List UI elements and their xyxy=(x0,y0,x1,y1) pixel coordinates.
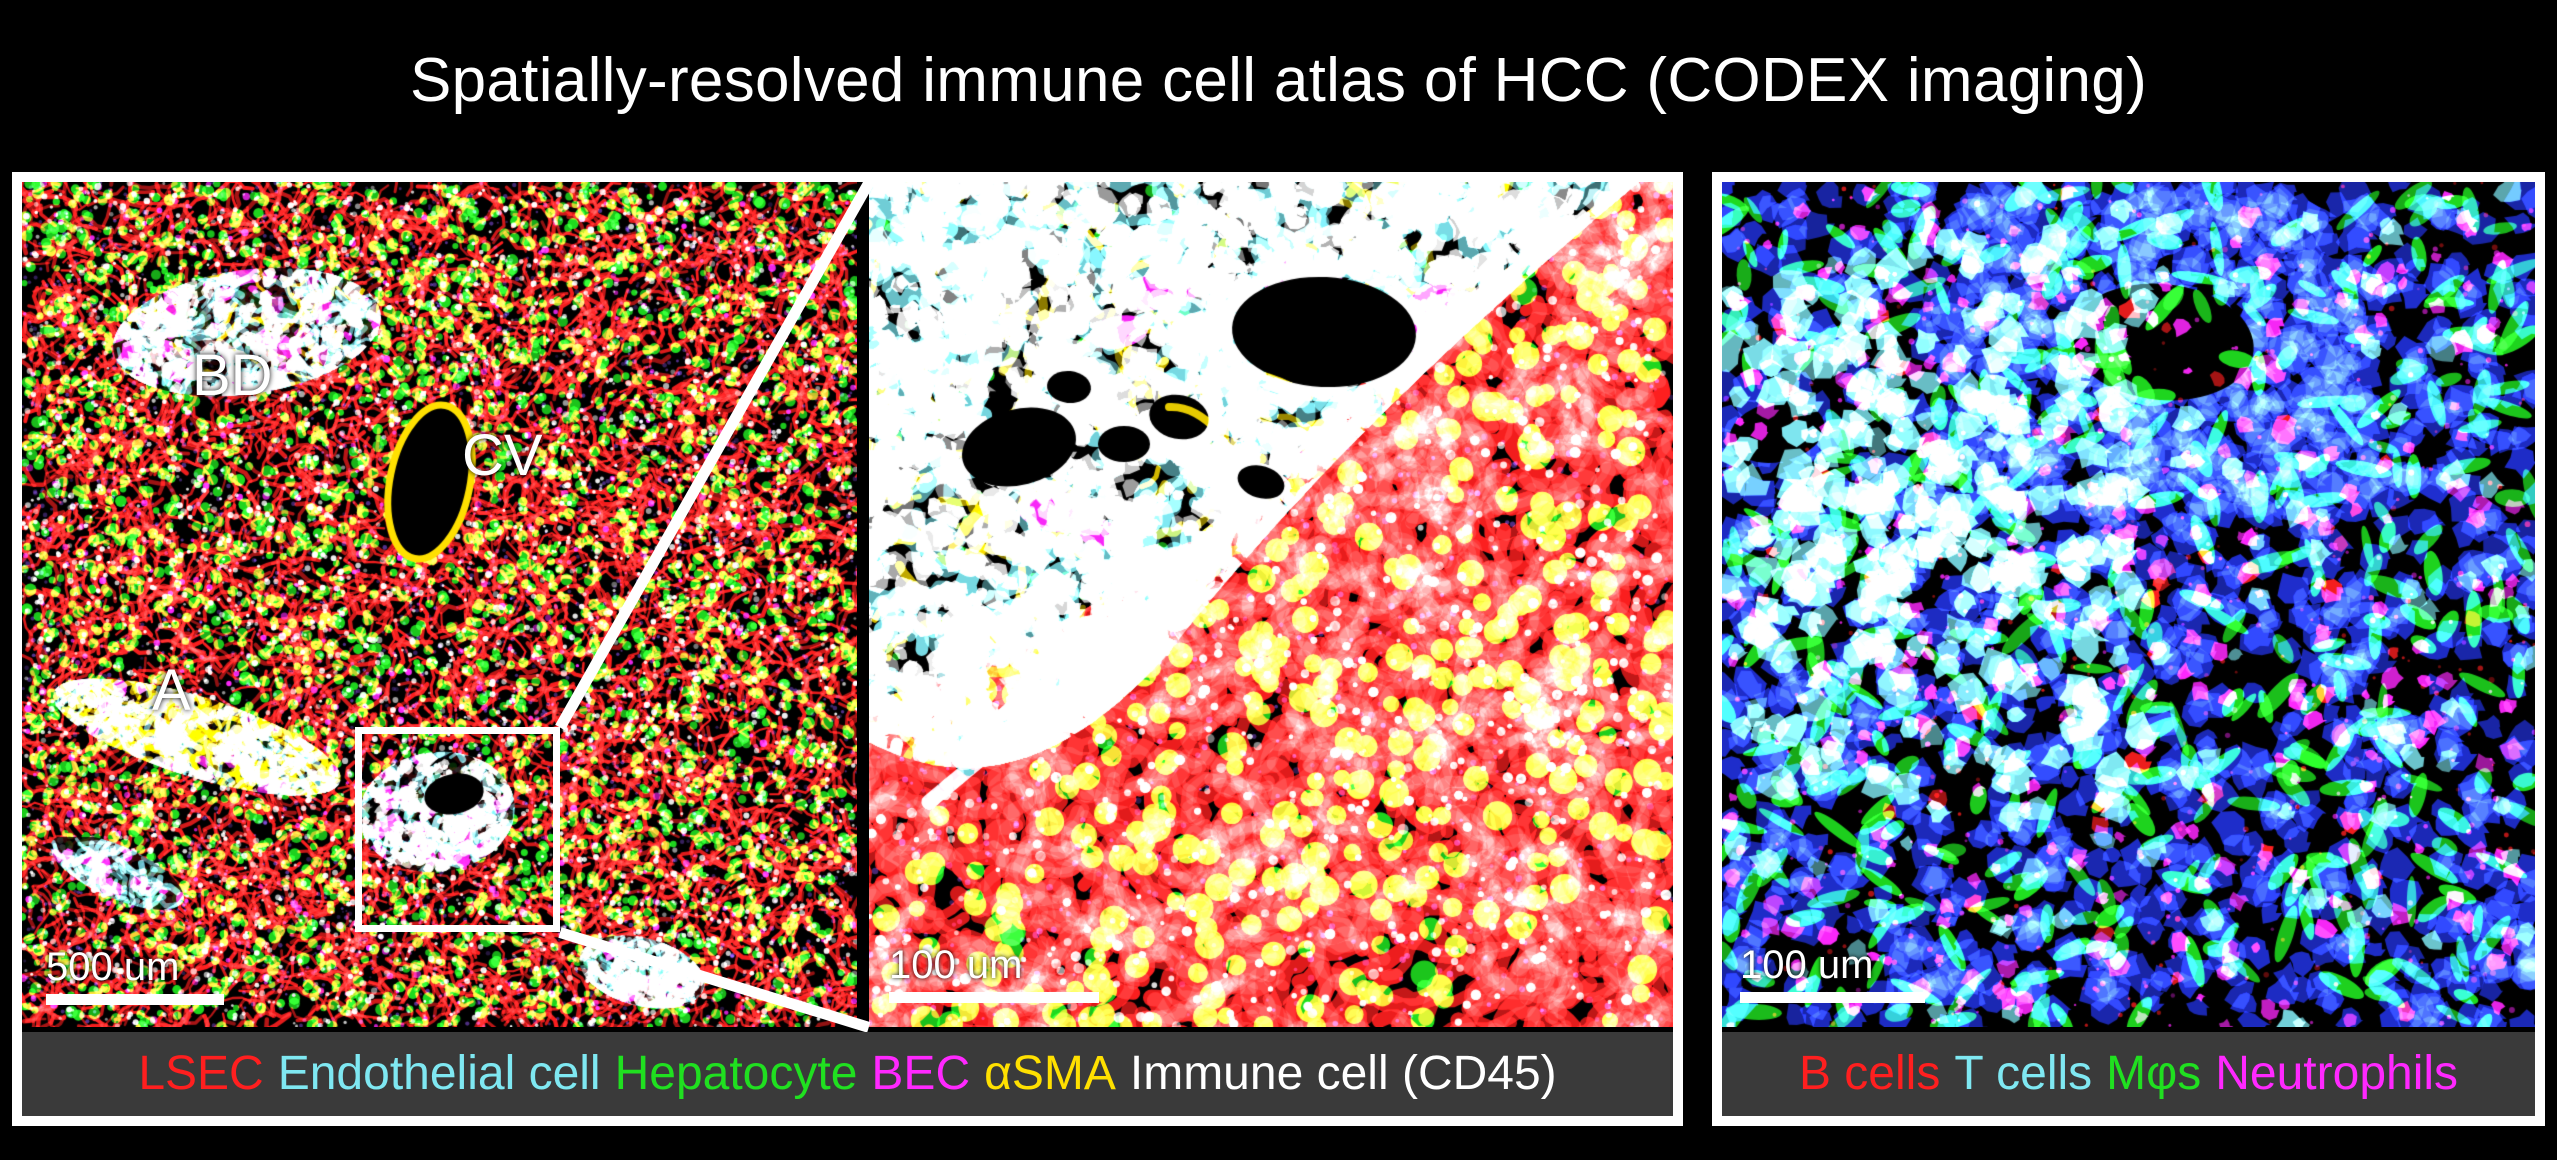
tissue-label-central-vein: CV xyxy=(462,427,543,485)
immune-panel[interactable]: 100 um xyxy=(1722,182,2535,1027)
legend-item-lsec: LSEC xyxy=(131,1050,270,1098)
zoomed-roi-panel[interactable]: 100 um xyxy=(869,182,1673,1027)
figure-title: Spatially-resolved immune cell atlas of … xyxy=(0,0,2557,160)
legend-item-neutrophils: Neutrophils xyxy=(2208,1050,2465,1098)
overview-panel[interactable]: BD CV A 500 um xyxy=(22,182,857,1027)
legend-item-asma: αSMA xyxy=(977,1050,1123,1098)
zoomed-roi-image[interactable] xyxy=(869,182,1673,1027)
legend-item-b-cells: B cells xyxy=(1792,1050,1947,1098)
legend-item-endothelial-cell: Endothelial cell xyxy=(271,1050,608,1098)
immune-scalebar-label: 100 um xyxy=(1740,944,1925,986)
right-panel-group: 100 um B cells T cells Mφs Neutrophils xyxy=(1712,172,2545,1126)
tissue-label-artery: A xyxy=(152,662,191,720)
right-panel-group-inner: 100 um B cells T cells Mφs Neutrophils xyxy=(1722,182,2535,1116)
overview-scalebar-label: 500 um xyxy=(46,946,224,988)
zoom-scalebar-label: 100 um xyxy=(889,944,1099,986)
figure-root: Spatially-resolved immune cell atlas of … xyxy=(0,0,2557,1160)
legend-item-hepatocyte: Hepatocyte xyxy=(608,1050,865,1098)
immune-scalebar-line xyxy=(1740,992,1925,1003)
overview-scalebar-line xyxy=(46,994,224,1005)
immune-subset-legend: B cells T cells Mφs Neutrophils xyxy=(1722,1032,2535,1116)
left-panel-group-inner: BD CV A 500 um 100 um xyxy=(22,182,1673,1116)
structural-marker-legend: LSEC Endothelial cell Hepatocyte BEC αSM… xyxy=(22,1032,1673,1116)
zoom-scalebar-line xyxy=(889,992,1099,1003)
legend-item-immune-cell-cd45: Immune cell (CD45) xyxy=(1123,1050,1564,1098)
legend-item-t-cells: T cells xyxy=(1947,1050,2099,1098)
overview-scalebar: 500 um xyxy=(46,946,224,1005)
immune-image[interactable] xyxy=(1722,182,2535,1027)
legend-item-bec: BEC xyxy=(864,1050,977,1098)
immune-scalebar: 100 um xyxy=(1740,944,1925,1003)
roi-selection-box[interactable] xyxy=(355,727,560,932)
legend-item-macrophages: Mφs xyxy=(2099,1050,2208,1098)
left-panel-group: BD CV A 500 um 100 um xyxy=(12,172,1683,1126)
zoom-scalebar: 100 um xyxy=(889,944,1099,1003)
tissue-label-bile-duct: BD xyxy=(192,347,273,405)
